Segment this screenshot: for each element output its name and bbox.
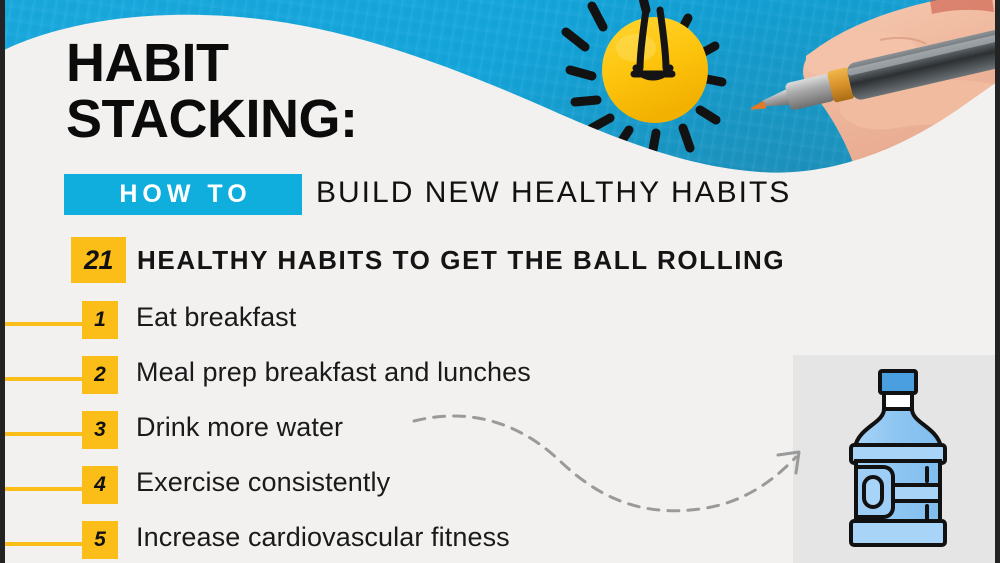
infographic-page: HABIT STACKING: HOW TO BUILD NEW HEALTHY…	[0, 0, 1000, 563]
item-number: 2	[94, 363, 106, 387]
item-label: Meal prep breakfast and lunches	[136, 357, 531, 388]
item-number: 4	[94, 473, 106, 497]
item-label: Increase cardiovascular fitness	[136, 522, 510, 553]
page-title-line1: HABIT	[66, 36, 228, 90]
item-label: Drink more water	[136, 412, 343, 443]
item-label: Exercise consistently	[136, 467, 390, 498]
water-jug-icon	[843, 367, 953, 552]
how-to-label: HOW TO	[114, 180, 251, 209]
item-connector-line	[0, 322, 90, 326]
item-label: Eat breakfast	[136, 302, 296, 333]
section-heading: HEALTHY HABITS TO GET THE BALL ROLLING	[137, 245, 785, 276]
item-number: 3	[94, 418, 106, 442]
item-connector-line	[0, 542, 90, 546]
how-to-badge: HOW TO	[64, 174, 302, 215]
item-number: 1	[94, 308, 106, 332]
item-number-badge: 3	[82, 411, 118, 449]
habit-count-badge: 21	[71, 237, 126, 283]
page-subtitle: BUILD NEW HEALTHY HABITS	[316, 176, 791, 210]
dashed-curve-arrow-icon	[400, 405, 830, 535]
item-number-badge: 5	[82, 521, 118, 559]
item-connector-line	[0, 487, 90, 491]
habit-count-value: 21	[84, 245, 113, 276]
item-connector-line	[0, 432, 90, 436]
page-left-border	[0, 0, 5, 563]
item-number-badge: 2	[82, 356, 118, 394]
page-right-border	[995, 0, 1000, 563]
page-title-line2: STACKING:	[66, 92, 357, 146]
item-connector-line	[0, 377, 90, 381]
item-number-badge: 4	[82, 466, 118, 504]
item-number-badge: 1	[82, 301, 118, 339]
item-number: 5	[94, 528, 106, 552]
